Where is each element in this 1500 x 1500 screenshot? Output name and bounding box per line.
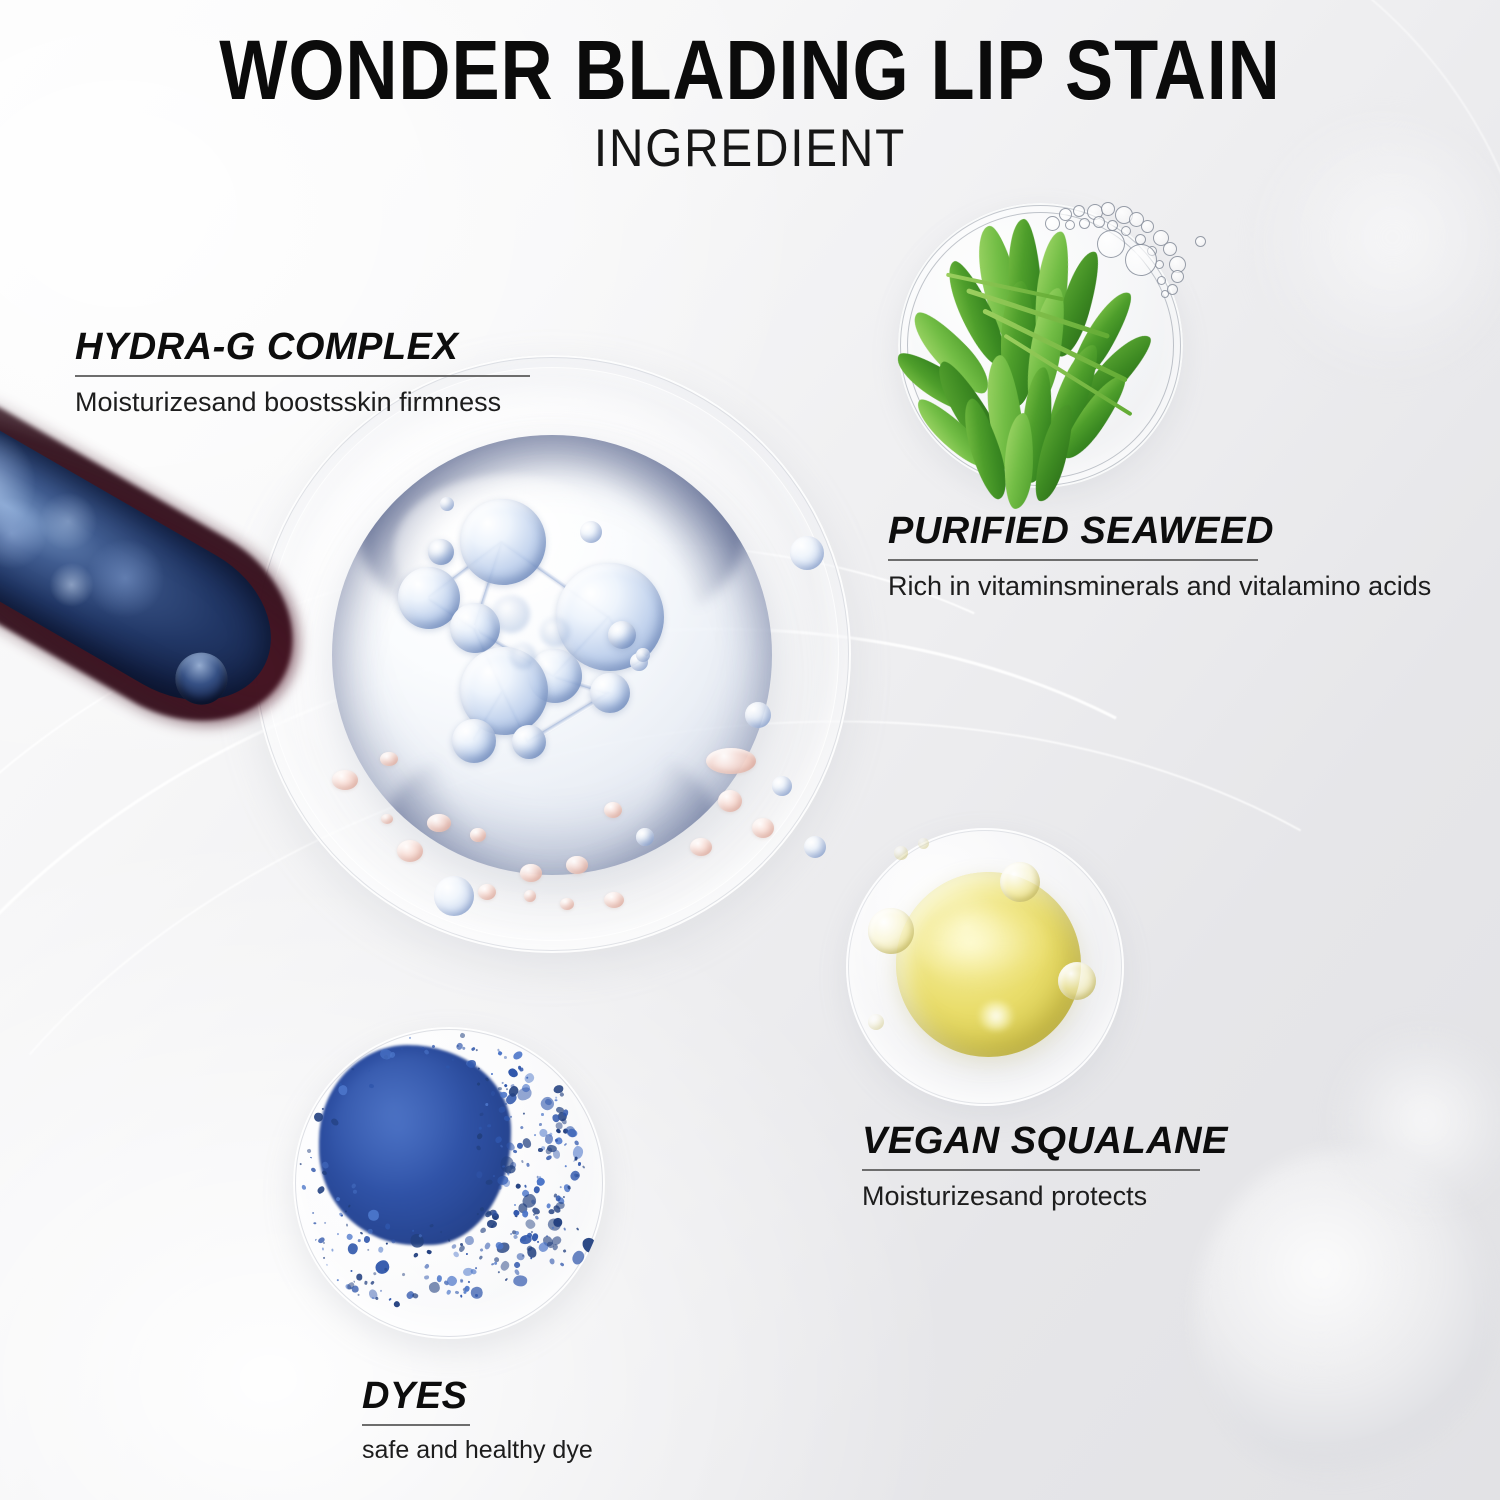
pigment-grain	[358, 1239, 361, 1242]
pink-droplet	[427, 814, 451, 832]
rim-bubble	[1079, 218, 1090, 229]
pigment-grain	[451, 1243, 457, 1249]
pigment-grain	[559, 1092, 564, 1097]
pigment-grain	[426, 1250, 432, 1256]
label-description: safe and healthy dye	[362, 1435, 593, 1465]
rim-bubble	[1065, 220, 1075, 230]
oil-specular-highlight	[977, 1001, 1015, 1031]
pigment-grain	[491, 1073, 493, 1075]
pigment-grain	[341, 1214, 344, 1216]
page-subtitle: INGREDIENT	[75, 118, 1425, 179]
pigment-grain	[474, 1266, 477, 1269]
pink-droplet	[604, 802, 622, 818]
pigment-grain	[355, 1273, 362, 1280]
label-description: Moisturizesand protects	[862, 1180, 1228, 1212]
pigment-grain	[371, 1296, 374, 1299]
pigment-grain	[493, 1256, 500, 1263]
background-blur-circle-bottom-right	[1195, 1150, 1495, 1480]
rim-bubble	[1157, 276, 1166, 285]
pigment-grain	[560, 1263, 565, 1268]
pigment-grain	[484, 1241, 492, 1249]
label-title: VEGAN SQUALANE	[862, 1122, 1228, 1162]
rim-bubble	[1161, 290, 1169, 298]
pigment-grain	[427, 1280, 442, 1295]
pigment-grain	[522, 1137, 533, 1149]
pink-droplet	[566, 856, 588, 874]
bubble	[804, 836, 826, 858]
pigment-grain	[463, 1234, 475, 1246]
label-divider	[888, 559, 1258, 561]
pigment-grain	[388, 1297, 392, 1301]
pigment-grain	[498, 1271, 500, 1273]
hydra-water-sphere	[332, 435, 772, 875]
pigment-grain	[337, 1279, 339, 1281]
bubble	[772, 776, 792, 796]
label-divider	[75, 375, 530, 377]
pigment-grain	[563, 1250, 567, 1254]
pigment-grain	[513, 1235, 518, 1240]
rim-bubble	[1101, 202, 1115, 216]
pigment-grain	[480, 1248, 484, 1252]
pigment-grain	[306, 1148, 311, 1153]
seaweed-rim-bubbles	[1035, 200, 1190, 310]
pigment-grain	[375, 1297, 379, 1301]
pigment-grain	[409, 1037, 412, 1040]
pigment-grain	[524, 1218, 537, 1231]
pigment-grain	[498, 1087, 502, 1090]
molecule-node	[460, 499, 546, 585]
pigment-grain	[477, 1067, 479, 1070]
molecule-cluster-icon	[332, 435, 772, 875]
label-hydra-g-complex: HYDRA-G COMPLEX Moisturizesand boostsski…	[75, 328, 530, 418]
pigment-grain	[556, 1202, 566, 1210]
pigment-grain	[413, 1252, 420, 1259]
pigment-grain	[454, 1290, 459, 1294]
pigment-grain	[312, 1212, 315, 1215]
background-blur-circle-bottom-right-small	[1330, 1020, 1500, 1220]
pink-droplet	[381, 814, 393, 824]
pigment-grain	[470, 1285, 485, 1301]
pigment-grain	[310, 1157, 312, 1159]
pigment-grain	[510, 1115, 512, 1118]
bubble	[790, 536, 824, 570]
pigment-grain	[541, 1113, 544, 1116]
pigment-grain	[565, 1165, 567, 1167]
rim-bubble	[1045, 216, 1060, 231]
pink-droplet	[706, 748, 756, 774]
pigment-grain	[378, 1247, 384, 1253]
rim-bubble	[1141, 220, 1154, 233]
pink-droplet	[520, 864, 542, 882]
pigment-grain	[513, 1261, 522, 1270]
pigment-grain	[462, 1046, 466, 1050]
bubble	[636, 648, 650, 662]
infographic-canvas: WONDER BLADING LIP STAIN INGREDIENT	[0, 0, 1500, 1500]
pigment-grain	[552, 1149, 561, 1160]
rim-bubble	[1121, 226, 1131, 236]
pigment-grain	[336, 1233, 339, 1236]
molecule-node	[590, 673, 630, 713]
squalane-bubble	[918, 838, 929, 849]
label-dyes: DYES safe and healthy dye	[362, 1377, 593, 1465]
pigment-grain	[533, 1133, 536, 1136]
pigment-grain	[437, 1275, 442, 1282]
pigment-grain	[322, 1247, 325, 1251]
pigment-grain	[517, 1253, 526, 1261]
pigment-grain	[556, 1128, 562, 1134]
pigment-grain	[364, 1280, 368, 1284]
molecule-node	[428, 539, 454, 565]
pink-droplet	[524, 890, 536, 902]
pigment-grain	[537, 1240, 540, 1243]
pigment-grain	[317, 1185, 327, 1195]
pigment-grain	[446, 1275, 459, 1287]
rim-bubble	[1125, 244, 1157, 276]
pigment-grain	[367, 1249, 370, 1252]
pigment-grain	[494, 1262, 497, 1266]
pigment-grain	[570, 1249, 586, 1267]
pigment-grain	[523, 1071, 536, 1084]
pigment-grain	[475, 1049, 477, 1051]
pigment-grain	[490, 1091, 494, 1096]
pigment-grain	[538, 1128, 547, 1137]
pigment-grain	[412, 1293, 419, 1299]
pigment-grain	[548, 1209, 555, 1214]
pigment-grain	[536, 1175, 539, 1178]
pigment-grain	[517, 1142, 523, 1149]
label-description: Moisturizesand boostsskin firmness	[75, 386, 530, 418]
pink-droplet	[470, 828, 486, 842]
pigment-grain	[350, 1270, 353, 1273]
pigment-grain	[412, 1229, 415, 1232]
squalane-bubble	[1000, 862, 1040, 902]
pigment-grain	[323, 1221, 326, 1224]
bubble	[434, 876, 474, 916]
pigment-grain	[372, 1271, 376, 1275]
pigment-grain	[487, 1219, 497, 1228]
pink-droplet	[332, 770, 358, 790]
pigment-grain	[512, 1049, 524, 1060]
pigment-grain	[534, 1186, 541, 1194]
page-title: WONDER BLADING LIP STAIN	[105, 22, 1395, 119]
pigment-grain	[564, 1142, 566, 1144]
pigment-grain	[513, 1275, 527, 1287]
blue-pigment-powder	[319, 1045, 511, 1245]
rim-bubble	[1195, 236, 1206, 247]
pigment-grain	[386, 1242, 388, 1244]
pigment-grain	[323, 1257, 326, 1260]
pigment-grain	[466, 1253, 468, 1255]
bubble	[636, 828, 654, 846]
pigment-grain	[299, 1163, 301, 1165]
pigment-grain	[368, 1069, 370, 1071]
dyes-petri-dish	[293, 1027, 605, 1339]
pigment-grain	[462, 1267, 474, 1277]
oil-swirl-highlight	[918, 905, 1051, 990]
pigment-grain	[445, 1289, 451, 1295]
rim-bubble	[1073, 205, 1085, 217]
pigment-grain	[539, 1123, 542, 1126]
pigment-grain	[370, 1280, 375, 1285]
pigment-grain	[346, 1233, 353, 1240]
label-divider	[862, 1169, 1200, 1171]
pigment-grain	[521, 1160, 524, 1164]
label-description: Rich in vitaminsminerals and vitalamino …	[888, 570, 1431, 602]
pigment-grain	[326, 1264, 327, 1266]
pigment-grain	[576, 1227, 580, 1231]
pigment-grain	[520, 1125, 525, 1130]
pigment-grain	[460, 1033, 466, 1039]
pigment-grain	[549, 1257, 555, 1264]
pigment-grain	[310, 1167, 316, 1173]
pigment-grain	[424, 1275, 429, 1280]
label-title: HYDRA-G COMPLEX	[75, 328, 530, 368]
pigment-grain	[524, 1185, 527, 1188]
pigment-grain	[574, 1156, 578, 1160]
pigment-grain	[346, 1224, 349, 1227]
pink-droplet	[752, 818, 774, 838]
pigment-grain	[331, 1249, 333, 1252]
pigment-grain	[555, 1099, 558, 1101]
pigment-grain	[551, 1244, 558, 1252]
label-title: PURIFIED SEAWEED	[888, 512, 1431, 552]
pigment-grain	[463, 1291, 467, 1295]
pink-droplet	[690, 838, 712, 856]
molecule-ghost-node	[510, 643, 536, 669]
pink-droplet	[604, 892, 624, 908]
pigment-grain	[314, 1222, 317, 1224]
pigment-grain	[526, 1163, 530, 1168]
pigment-grain	[301, 1185, 307, 1191]
pigment-grain	[347, 1243, 359, 1256]
pigment-grain	[509, 1233, 512, 1236]
pigment-grain	[478, 1255, 483, 1260]
label-vegan-squalane: VEGAN SQUALANE Moisturizesand protects	[862, 1122, 1228, 1212]
pigment-grain	[522, 1211, 528, 1218]
molecule-ghost-node	[540, 617, 570, 647]
pigment-grain	[582, 1165, 586, 1169]
squalane-bubble	[1058, 962, 1096, 1000]
pigment-grain	[534, 1215, 538, 1220]
pigment-grain	[323, 1241, 326, 1244]
pigment-grain	[564, 1124, 578, 1139]
pigment-grain	[563, 1228, 566, 1232]
pigment-grain	[555, 1096, 557, 1099]
pigment-grain	[480, 1227, 488, 1235]
pigment-grain	[351, 1285, 360, 1294]
pigment-grain	[460, 1294, 462, 1297]
squalane-bubble	[868, 908, 914, 954]
pink-droplet	[380, 752, 398, 766]
squalane-oil-droplet	[896, 872, 1081, 1057]
pink-droplet	[560, 898, 574, 910]
label-purified-seaweed: PURIFIED SEAWEED Rich in vitaminsmineral…	[888, 512, 1431, 602]
label-title: DYES	[362, 1377, 593, 1417]
pigment-grain	[538, 1148, 543, 1152]
bubble	[440, 497, 454, 511]
rim-bubble	[1093, 216, 1105, 228]
molecule-node	[608, 621, 636, 649]
molecule-node	[512, 725, 546, 759]
pink-droplet	[397, 840, 423, 862]
pigment-grain	[358, 1294, 360, 1296]
rim-bubble	[1097, 230, 1125, 258]
molecule-ghost-node	[492, 595, 530, 633]
pigment-grain	[504, 1056, 508, 1059]
pigment-grain	[401, 1272, 405, 1276]
pink-droplet	[718, 790, 742, 812]
pigment-grain	[545, 1154, 552, 1161]
pigment-grain	[424, 1263, 430, 1269]
pigment-grain	[515, 1183, 522, 1190]
molecule-node	[452, 719, 496, 763]
pigment-grain	[514, 1204, 516, 1206]
squalane-bubble	[894, 846, 908, 860]
pigment-grain	[393, 1300, 401, 1308]
pigment-grain	[364, 1235, 371, 1242]
pigment-grain	[503, 1179, 511, 1187]
bubble	[745, 702, 771, 728]
pigment-grain	[538, 1095, 556, 1113]
rim-bubble	[1163, 242, 1177, 256]
pigment-grain	[380, 1290, 382, 1292]
pigment-grain	[504, 1083, 508, 1087]
pigment-grain	[519, 1067, 524, 1071]
pigment-grain	[499, 1260, 511, 1273]
pigment-grain	[360, 1231, 363, 1234]
pigment-grain	[546, 1203, 551, 1209]
pink-droplet	[478, 884, 496, 900]
label-divider	[362, 1424, 470, 1426]
pigment-grain	[514, 1231, 519, 1236]
pigment-grain	[555, 1106, 564, 1114]
pigment-grain	[523, 1113, 525, 1115]
squalane-bubble	[868, 1014, 884, 1030]
pigment-grain	[560, 1185, 562, 1187]
rim-bubble	[1171, 270, 1184, 283]
pigment-grain	[505, 1088, 507, 1090]
bubble	[580, 521, 602, 543]
pigment-grain	[314, 1238, 316, 1240]
